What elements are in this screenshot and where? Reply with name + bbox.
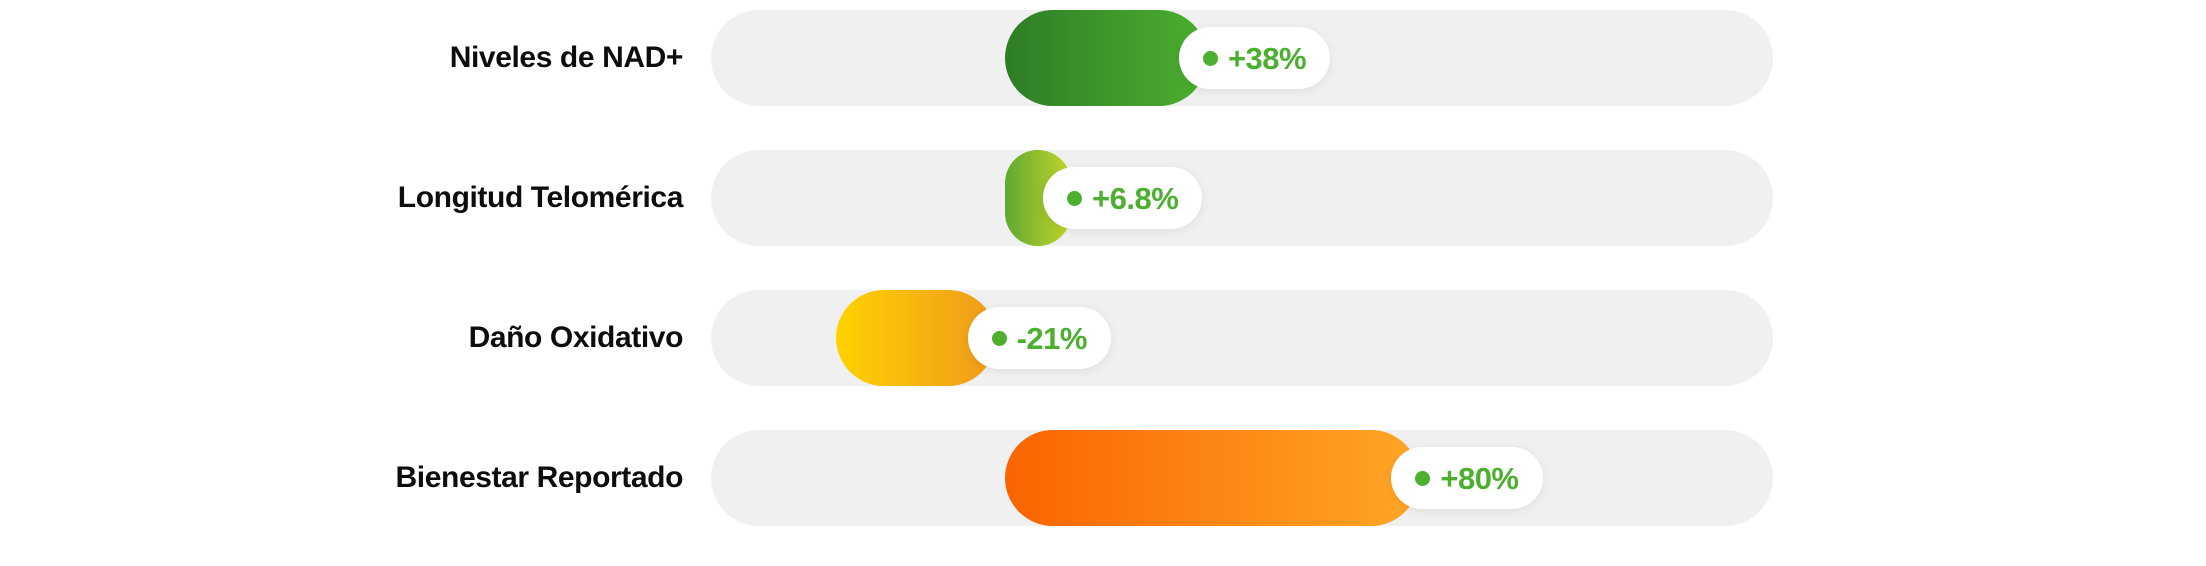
metric-bar-area: +80%	[711, 430, 1773, 526]
value-text: +80%	[1440, 463, 1518, 494]
metric-label: Daño Oxidativo	[0, 290, 683, 386]
metric-label: Longitud Telomérica	[0, 150, 683, 246]
status-dot-icon	[992, 331, 1007, 346]
metric-bar-area: -21%	[711, 290, 1773, 386]
status-dot-icon	[1415, 471, 1430, 486]
value-badge: +80%	[1391, 447, 1542, 509]
bar-track	[711, 150, 1773, 246]
value-text: -21%	[1017, 323, 1087, 354]
bar-fill	[1005, 10, 1207, 106]
value-badge: -21%	[968, 307, 1111, 369]
metric-label: Bienestar Reportado	[0, 430, 683, 526]
metric-bar-area: +38%	[711, 10, 1773, 106]
value-text: +6.8%	[1092, 183, 1178, 214]
metric-row: Longitud Telomérica +6.8%	[0, 150, 2206, 246]
metric-label: Niveles de NAD+	[0, 10, 683, 106]
metrics-bar-chart: Niveles de NAD+ +38% Longitud Telomérica…	[0, 0, 2206, 566]
metric-row: Bienestar Reportado +80%	[0, 430, 2206, 526]
value-badge: +6.8%	[1043, 167, 1202, 229]
metric-row: Daño Oxidativo -21%	[0, 290, 2206, 386]
metric-bar-area: +6.8%	[711, 150, 1773, 246]
value-badge: +38%	[1179, 27, 1330, 89]
bar-fill	[1005, 430, 1419, 526]
status-dot-icon	[1067, 191, 1082, 206]
metric-row: Niveles de NAD+ +38%	[0, 10, 2206, 106]
status-dot-icon	[1203, 51, 1218, 66]
value-text: +38%	[1228, 43, 1306, 74]
